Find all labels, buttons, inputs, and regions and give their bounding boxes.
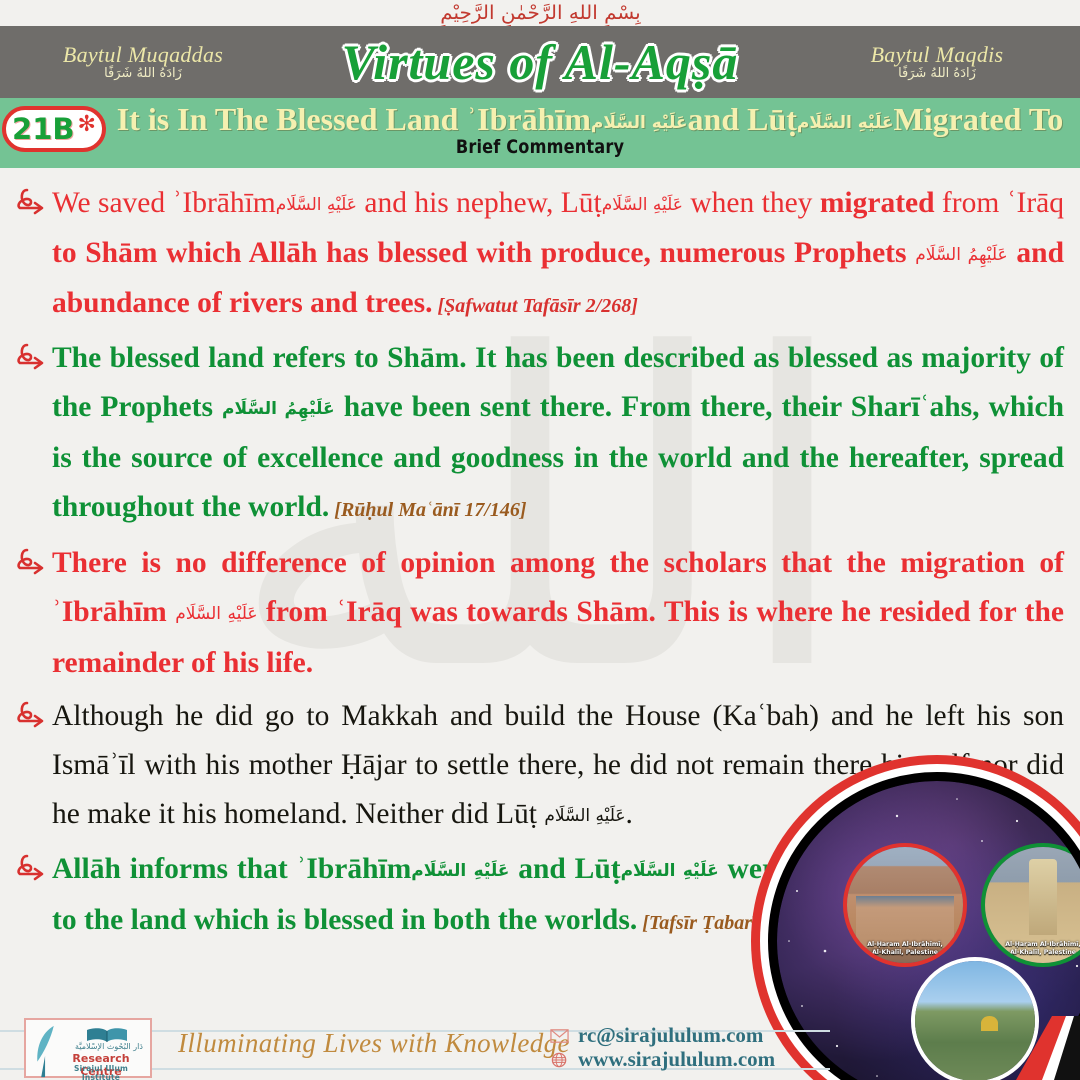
paragraph-bullet	[14, 539, 52, 577]
open-book-icon	[84, 1027, 130, 1043]
alayhis-salam-symbol: عَلَيْهِ السَّلَام	[797, 113, 894, 133]
header-right-block: Baytul Maqdis زَادَهُ اللهُ شَرَفًا	[812, 43, 1062, 81]
curly-arrow-bullet-icon	[14, 342, 48, 372]
paragraph-bullet	[14, 179, 52, 217]
contact-email: rc@sirajululum.com	[578, 1024, 763, 1047]
header-bar: Baytul Muqaddas زَادَهُ اللهُ شَرَفًا Vi…	[0, 26, 1080, 98]
envelope-icon	[550, 1028, 569, 1044]
bismillah-text: بِسْمِ اللهِ الرَّحْمٰنِ الرَّحِيْمِ	[440, 4, 641, 23]
logo-subtitle: Sirajul Ulum Institute	[54, 1064, 148, 1080]
header-right-arabic: زَادَهُ اللهُ شَرَفًا	[812, 67, 1062, 81]
header-left-arabic: زَادَهُ اللهُ شَرَفًا	[18, 67, 268, 81]
paragraph-bullet	[14, 334, 52, 372]
footer-contact: rc@sirajululum.com www.sirajululum.com	[550, 1024, 775, 1071]
commentary-paragraph: The blessed land refers to Shām. It has …	[14, 334, 1064, 535]
paragraph-bullet	[14, 692, 52, 730]
curly-arrow-bullet-icon	[14, 547, 48, 577]
collage-thumb-ibrahimi-mosque: Al-Ḥaram Al-Ibrāhīmī,Al-Khalīl, Palestin…	[843, 843, 967, 967]
paragraph-segment: .	[626, 798, 633, 830]
thumb-caption-2: Al-Ḥaram Al-Ibrāhīmī,Al-Khalīl, Palestin…	[985, 941, 1080, 956]
source-citation: [Rūḥul Maʿānī 17/146]	[329, 499, 526, 521]
curly-arrow-bullet-icon	[14, 700, 48, 730]
honorific-symbol: عَلَيْهِ السَّلَام	[411, 861, 509, 881]
footer-tagline: Illuminating Lives with Knowledge	[178, 1028, 570, 1059]
paragraph-text: The blessed land refers to Shām. It has …	[52, 334, 1064, 535]
honorific-symbol: عَلَيْهِ السَّلَام	[602, 195, 683, 215]
paragraph-segment: from ʿIrāq	[935, 187, 1064, 219]
alayhis-salam-symbol: عَلَيْهِ السَّلَام	[591, 113, 688, 133]
paragraph-segment: Allāh informs that ʾIbrāhīm	[52, 853, 411, 885]
bismillah-strip: بِسْمِ اللهِ الرَّحْمٰنِ الرَّحِيْمِ	[0, 0, 1080, 26]
institute-logo: دَار البُحُوث الإسْلاميَّة Research Cent…	[24, 1018, 152, 1078]
paragraph-segment: We saved ʾIbrāhīm	[52, 187, 276, 219]
topic-badge-number: 21B	[12, 112, 74, 146]
paragraph-text: There is no difference of opinion among …	[52, 539, 1064, 688]
curly-arrow-bullet-icon	[14, 187, 48, 217]
paragraph-segment: to Shām which Allāh has blessed with pro…	[52, 237, 915, 269]
paragraph-segment: migrated	[820, 187, 935, 219]
collage-thumb-minaret: Al-Ḥaram Al-Ibrāhīmī,Al-Khalīl, Palestin…	[981, 843, 1080, 967]
commentary-paragraph: There is no difference of opinion among …	[14, 539, 1064, 688]
topic-band: 21B ✻ It is In The Blessed Land ʾIbrāhīm…	[0, 98, 1080, 168]
footer: دَار البُحُوث الإسْلاميَّة Research Cent…	[0, 1016, 1080, 1080]
topic-title-part1: It is In The Blessed Land ʾIbrāhīm	[117, 101, 591, 137]
honorific-symbol: عَلَيْهِ السَّلَام	[621, 861, 719, 881]
paragraph-segment: and Lūṭ	[509, 853, 620, 885]
topic-title-part2: and Lūṭ	[688, 101, 797, 137]
paragraph-bullet	[14, 845, 52, 883]
topic-subtitle: Brief Commentary	[81, 136, 999, 158]
page-title: Virtues of Al-Aqṣā	[342, 33, 739, 91]
honorific-symbol: عَلَيْهِمُ السَّلَام	[915, 245, 1008, 265]
topic-title: It is In The Blessed Land ʾIbrāhīmعَلَيْ…	[110, 101, 1070, 139]
curly-arrow-bullet-icon	[14, 853, 48, 883]
honorific-symbol: عَلَيْهِ السَّلَام	[544, 806, 625, 826]
logo-arabic-text: دَار البُحُوث الإسْلاميَّة	[72, 1042, 146, 1051]
honorific-symbol: عَلَيْهِمُ السَّلَام	[222, 399, 335, 419]
paragraph-text: We saved ʾIbrāhīmعَلَيْهِ السَّلَام and …	[52, 179, 1064, 330]
contact-email-row[interactable]: rc@sirajululum.com	[550, 1024, 775, 1047]
paragraph-segment: when they	[683, 187, 820, 219]
header-right-english: Baytul Maqdis	[812, 43, 1062, 66]
honorific-symbol: عَلَيْهِ السَّلَام	[175, 604, 257, 624]
footer-flag-accent	[950, 1016, 1080, 1080]
contact-website-row[interactable]: www.sirajululum.com	[550, 1048, 775, 1071]
header-left-block: Baytul Muqaddas زَادَهُ اللهُ شَرَفًا	[18, 43, 268, 81]
commentary-paragraph: We saved ʾIbrāhīmعَلَيْهِ السَّلَام and …	[14, 179, 1064, 330]
header-left-english: Baytul Muqaddas	[18, 43, 268, 66]
thumb-caption-1: Al-Ḥaram Al-Ibrāhīmī,Al-Khalīl, Palestin…	[847, 941, 963, 956]
paragraph-segment: and his nephew, Lūṭ	[357, 187, 602, 219]
flag-accent-icon	[950, 1016, 1080, 1080]
honorific-symbol: عَلَيْهِ السَّلَام	[276, 195, 357, 215]
source-citation: [Ṣafwatut Tafāsīr 2/268]	[433, 295, 638, 317]
globe-icon	[550, 1052, 569, 1068]
contact-website: www.sirajululum.com	[578, 1048, 775, 1071]
topic-title-part3: Migrated To	[894, 101, 1064, 137]
poster-page: الله بِسْمِ اللهِ الرَّحْمٰنِ الرَّحِيْم…	[0, 0, 1080, 1080]
asterisk-icon: ✻	[78, 114, 96, 136]
